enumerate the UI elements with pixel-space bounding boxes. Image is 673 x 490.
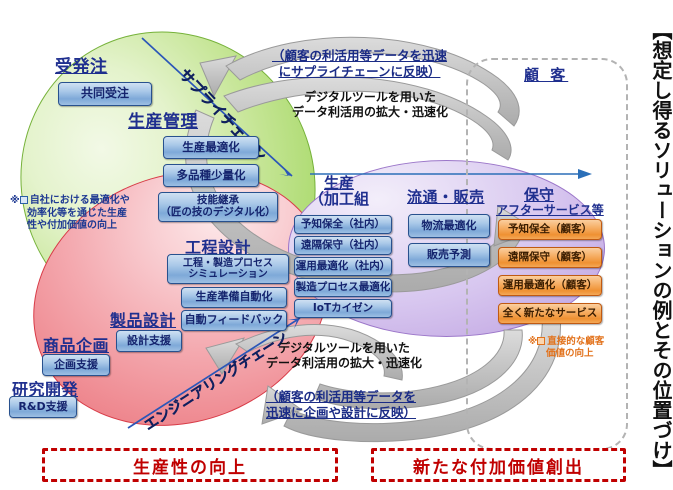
item-enkaku-hoshu-shanai[interactable]: 遠隔保守（社内） xyxy=(294,236,392,255)
legend-swatch-blue xyxy=(20,196,28,204)
group-title-seisan-kanri: 生産管理 xyxy=(128,107,198,132)
vertical-page-title: 【想定し得るソリューションの例とその位置づけ】 xyxy=(637,20,671,482)
group-title-juhacchu: 受発注 xyxy=(55,52,108,77)
group-title-hoshu-line2: アフターサービス等 xyxy=(496,203,604,217)
item-kotei-simulation-line2: シミュレーション xyxy=(188,269,268,280)
item-kyodo-juchu[interactable]: 共同受注 xyxy=(58,82,152,106)
item-hanbai-yosoku[interactable]: 販売予測 xyxy=(408,243,490,267)
diagram-canvas: 顧 客 サプライチェーン エンジニアリングチェーン （顧客の利活用等データを迅速… xyxy=(0,0,673,490)
item-seisan-saitekika[interactable]: 生産最適化 xyxy=(163,136,259,159)
narrative-bottom-blue: （顧客の利活用等データを 迅速に企画や設計に反映） xyxy=(266,389,416,420)
item-iot-kaizen[interactable]: IoTカイゼン xyxy=(294,299,392,318)
group-title-shohin-kikaku: 商品企画 xyxy=(43,332,109,356)
item-ginou-keishou-line2: （匠の技のデジタル化） xyxy=(160,207,275,219)
item-yochi-hozen-kokyaku[interactable]: 予知保全（顧客） xyxy=(498,219,602,240)
item-butsuryu-saitekika[interactable]: 物流最適化 xyxy=(408,214,490,238)
item-yochi-hozen-shanai[interactable]: 予知保全（社内） xyxy=(294,215,392,234)
item-jidou-feedback[interactable]: 自動フィードバック xyxy=(181,310,287,331)
group-title-ryutsu-hanbai: 流通・販売 xyxy=(407,186,485,207)
narrative-top-blue: （顧客の利活用等データを迅速 にサプライチェーンに反映） xyxy=(272,48,447,79)
narrative-bottom-black: デジタルツールを用いた データ利活用の拡大・迅速化 xyxy=(266,341,422,371)
note-mark-orange: ※ xyxy=(528,336,537,347)
note-mark: ※ xyxy=(10,195,20,206)
group-title-hoshu-line1: 保守 xyxy=(524,186,554,204)
note-customer-value: ※直接的な顧客 価値の向上 xyxy=(528,336,604,360)
item-unyo-saitekika-shanai[interactable]: 運用最適化（社内） xyxy=(294,257,392,276)
item-sekkei-shien[interactable]: 設計支援 xyxy=(116,330,182,352)
group-title-hoshu: 保守 アフターサービス等 xyxy=(496,188,626,216)
note-internal-value: ※自社における最適化や 効率化等を通じた生産 性や付加価値の向上 xyxy=(10,195,130,233)
group-title-seisan: 生産 （加工組 xyxy=(309,176,369,208)
footer-new-value-box: 新たな付加価値創出 xyxy=(371,448,626,482)
item-kikaku-shien[interactable]: 企画支援 xyxy=(42,354,110,376)
item-kotei-simulation-line1: 工程・製造プロセス xyxy=(183,258,273,269)
item-ginou-keishou[interactable]: 技能継承 （匠の技のデジタル化） xyxy=(158,192,278,222)
footer-productivity-box: 生産性の向上 xyxy=(42,448,338,482)
customer-label: 顧 客 xyxy=(524,64,568,85)
item-seizo-process-saitekika[interactable]: 製造プロセス最適化 xyxy=(294,278,392,297)
item-rd-shien[interactable]: R&D支援 xyxy=(9,396,77,418)
group-title-seihin-sekkei: 製品設計 xyxy=(110,307,176,331)
item-seisan-junbi-jidouka[interactable]: 生産準備自動化 xyxy=(181,287,287,308)
item-kotei-simulation[interactable]: 工程・製造プロセス シミュレーション xyxy=(167,254,289,284)
item-mattaku-aratana-service[interactable]: 全く新たなサービス xyxy=(498,303,602,324)
group-title-seisan-line2: （加工組 xyxy=(309,192,369,208)
narrative-top-black: デジタルツールを用いた データ利活用の拡大・迅速化 xyxy=(292,90,448,120)
item-enkaku-hoshu-kokyaku[interactable]: 遠隔保守（顧客） xyxy=(498,247,602,268)
legend-swatch-orange xyxy=(537,337,545,345)
item-tahinshu-shoryoka[interactable]: 多品種少量化 xyxy=(163,164,259,187)
item-unyo-saitekika-kokyaku[interactable]: 運用最適化（顧客） xyxy=(498,275,602,296)
